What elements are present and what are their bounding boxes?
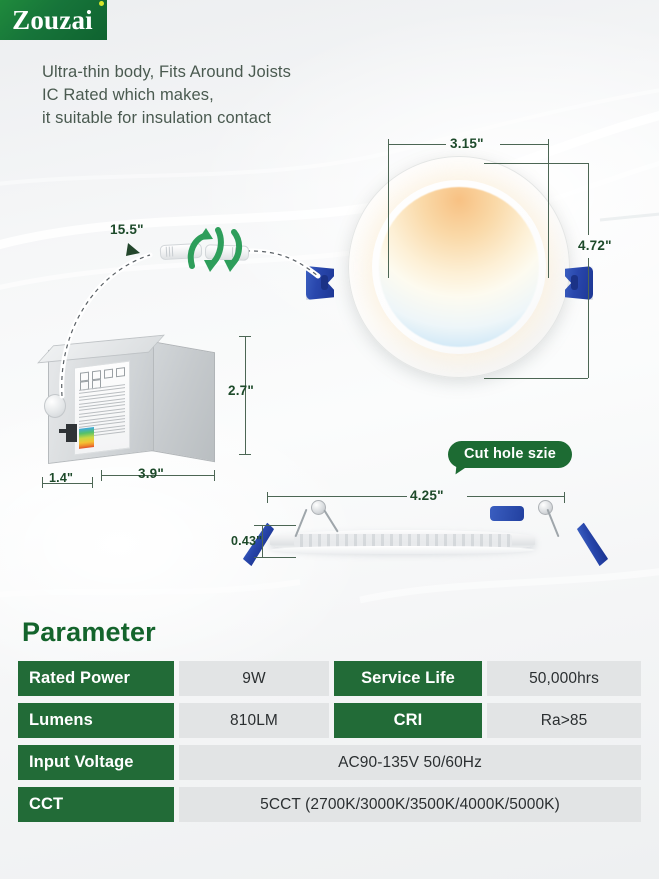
- param-label-rated-power: Rated Power: [18, 661, 174, 696]
- dim-label-jbox-depth: 1.4": [49, 471, 73, 485]
- param-label-service-life: Service Life: [334, 661, 482, 696]
- dim-label-outer: 4.72": [578, 238, 612, 253]
- dim-tick-jbox-height-top: [239, 336, 251, 337]
- dim-label-thickness: 0.43": [231, 534, 262, 548]
- junction-box: [48, 338, 210, 462]
- dim-line-outer-top: [588, 163, 589, 235]
- lens-cct-gradient: [379, 187, 539, 347]
- badge-tail: [456, 464, 469, 475]
- dim-label-diameter: 3.15": [450, 136, 484, 151]
- param-value-cct: 5CCT (2700K/3000K/3500K/4000K/5000K): [179, 787, 641, 822]
- profile-trim-rim: [270, 546, 535, 554]
- downlight-side-profile: [270, 520, 535, 562]
- param-label-cct: CCT: [18, 787, 174, 822]
- dim-line-cut-hole: [267, 496, 407, 497]
- param-label-cri: CRI: [334, 703, 482, 738]
- dim-tick-jbox-height-bottom: [239, 454, 251, 455]
- dim-ext-diameter-right: [548, 150, 549, 278]
- param-value-input-voltage: AC90-135V 50/60Hz: [179, 745, 641, 780]
- jbox-cable-gland: [44, 394, 66, 418]
- dim-label-jbox-height: 2.7": [228, 383, 254, 398]
- cut-hole-size-label: Cut hole szie: [464, 446, 556, 462]
- twist-connect-arrows-icon: [182, 222, 254, 274]
- clip-hinge-right: [538, 500, 553, 515]
- dim-tick-cut-hole-left: [267, 492, 268, 503]
- clip-tab-right: [490, 506, 524, 521]
- jbox-spec-label: [74, 361, 130, 456]
- dim-tick-jbox-depth-right: [92, 477, 93, 488]
- dim-ext-thickness-bottom: [254, 557, 296, 558]
- brand-logo-text: Zouzai: [12, 7, 95, 34]
- logo-dot-accent: [99, 1, 104, 6]
- dim-line-cut-hole-2: [467, 496, 564, 497]
- dim-line-outer-bottom: [588, 258, 589, 378]
- dim-tick-jbox-length-right: [214, 470, 215, 481]
- param-value-cri: Ra>85: [487, 703, 641, 738]
- dim-line-diameter-2: [500, 144, 548, 145]
- dim-tick-jbox-depth-left: [42, 477, 43, 488]
- downlight-front-view: [348, 156, 570, 378]
- jbox-knockout-plug: [66, 424, 77, 442]
- spring-clip-profile-right: [576, 520, 610, 568]
- cut-hole-size-badge: Cut hole szie: [448, 441, 572, 468]
- headline-line-2: IC Rated which makes,: [42, 84, 402, 107]
- param-label-input-voltage: Input Voltage: [18, 745, 174, 780]
- table-row: Rated Power 9W Service Life 50,000hrs: [18, 661, 641, 696]
- headline-line-1: Ultra-thin body, Fits Around Joists: [42, 61, 402, 84]
- dim-label-cut-hole: 4.25": [410, 488, 444, 503]
- dim-ext-outer-bottom: [484, 378, 588, 379]
- table-row: Lumens 810LM CRI Ra>85: [18, 703, 641, 738]
- product-infographic: Zouzai Ultra-thin body, Fits Around Jois…: [0, 0, 659, 879]
- dim-tick-cut-hole-right: [564, 492, 565, 503]
- parameter-table: Rated Power 9W Service Life 50,000hrs Lu…: [18, 661, 641, 829]
- dim-tick-jbox-length-left: [101, 470, 102, 481]
- energy-rating-sticker: [79, 427, 94, 449]
- dim-ext-diameter-left: [388, 150, 389, 278]
- dim-label-jbox-length: 3.9": [138, 466, 164, 481]
- param-value-rated-power: 9W: [179, 661, 329, 696]
- table-row: Input Voltage AC90-135V 50/60Hz: [18, 745, 641, 780]
- certification-icon-2: [104, 369, 113, 379]
- param-value-service-life: 50,000hrs: [487, 661, 641, 696]
- dim-line-diameter: [388, 144, 446, 145]
- dim-ext-thickness-top: [254, 525, 296, 526]
- clip-notch: [321, 275, 328, 290]
- headline-line-3: it suitable for insulation contact: [42, 107, 402, 130]
- param-label-lumens: Lumens: [18, 703, 174, 738]
- spring-clip-left: [306, 266, 334, 300]
- jbox-side-face: [151, 341, 215, 462]
- param-value-lumens: 810LM: [179, 703, 329, 738]
- table-row: CCT 5CCT (2700K/3000K/3500K/4000K/5000K): [18, 787, 641, 822]
- headline-block: Ultra-thin body, Fits Around Joists IC R…: [42, 61, 402, 130]
- clip-arm-right: [546, 509, 559, 538]
- parameter-section-title: Parameter: [22, 617, 156, 648]
- dim-label-cable-length: 15.5": [110, 222, 144, 237]
- dim-ext-outer-top: [484, 163, 588, 164]
- brand-logo: Zouzai: [0, 0, 107, 40]
- clip-notch: [571, 275, 578, 290]
- certification-icon-3: [116, 367, 125, 377]
